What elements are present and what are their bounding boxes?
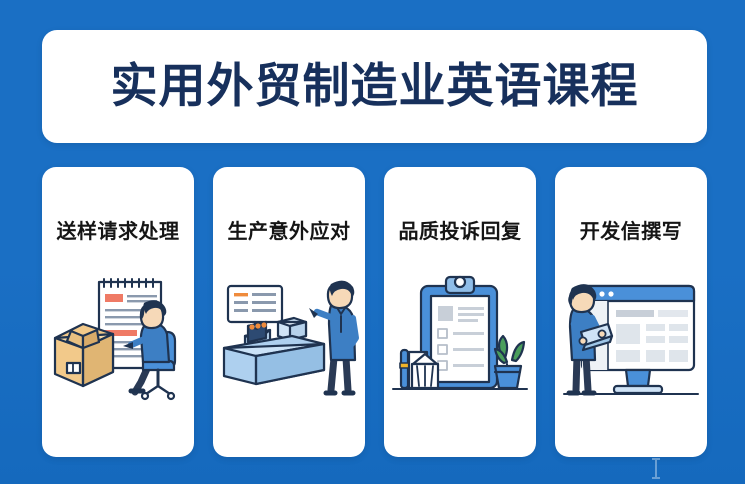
- title-card: 实用外贸制造业英语课程: [42, 30, 707, 143]
- text-cursor-artifact: [652, 458, 660, 479]
- feature-cards-row: 送样请求处理: [42, 167, 707, 457]
- feature-card-1[interactable]: 送样请求处理: [42, 167, 194, 457]
- feature-card-1-label: 送样请求处理: [57, 215, 180, 244]
- caret-cap-bottom: [652, 477, 660, 479]
- feature-card-3-label: 品质投诉回复: [399, 215, 522, 244]
- box-notepad-person-seated-icon: [43, 260, 193, 410]
- poster-canvas: 实用外贸制造业英语课程 送样请求处理: [0, 0, 745, 484]
- caret-bar: [655, 460, 657, 477]
- feature-card-2[interactable]: 生产意外应对: [213, 167, 365, 457]
- feature-card-4-label: 开发信撰写: [580, 215, 683, 244]
- monitor-browser-person-laptop-icon: [556, 260, 706, 410]
- feature-card-4[interactable]: 开发信撰写: [555, 167, 707, 457]
- feature-card-3[interactable]: 品质投诉回复: [384, 167, 536, 457]
- clipboard-checklist-plant-icon: [385, 260, 535, 410]
- feature-card-2-label: 生产意外应对: [228, 215, 351, 244]
- page-title: 实用外贸制造业英语课程: [111, 63, 639, 110]
- factory-conveyor-person-pointing-icon: [214, 260, 364, 410]
